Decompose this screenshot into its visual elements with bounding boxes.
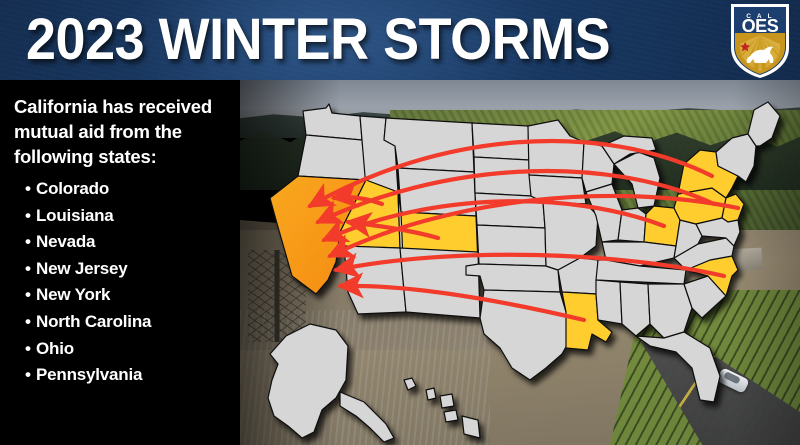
bullet-icon: • <box>25 309 36 336</box>
bullet-icon: • <box>25 229 36 256</box>
map-ak-hi-group <box>268 324 480 442</box>
state-florida <box>636 332 720 402</box>
us-mutual-aid-map <box>240 80 800 445</box>
state-hawaii-5 <box>462 416 480 438</box>
bullet-icon: • <box>25 362 36 389</box>
bullet-icon: • <box>25 203 36 230</box>
state-name: Louisiana <box>36 206 114 225</box>
state-name: Ohio <box>36 339 74 358</box>
state-name: Nevada <box>36 232 95 251</box>
state-alaska <box>268 324 348 438</box>
winter-storms-infographic: 2023 WINTER STORMS <box>0 0 800 445</box>
state-montana <box>384 118 474 172</box>
state-mississippi <box>596 280 622 324</box>
state-name: North Carolina <box>36 312 151 331</box>
state-hawaii-1 <box>404 378 416 390</box>
state-name: Colorado <box>36 179 109 198</box>
bullet-icon: • <box>25 256 36 283</box>
mutual-aid-state-list: •Colorado •Louisiana •Nevada •New Jersey… <box>25 176 235 389</box>
us-map-svg <box>240 80 800 445</box>
header-banner: 2023 WINTER STORMS <box>0 0 800 80</box>
page-title: 2023 WINTER STORMS <box>26 5 610 75</box>
state-alaska-tail <box>340 392 394 442</box>
list-item: •New Jersey <box>25 256 235 283</box>
state-texas <box>480 290 572 380</box>
state-name: New Jersey <box>36 259 128 278</box>
state-maine <box>748 102 780 146</box>
state-oklahoma <box>466 264 560 292</box>
list-item: •Nevada <box>25 229 235 256</box>
list-item: •New York <box>25 282 235 309</box>
cal-oes-logo: C A L OES <box>728 2 792 80</box>
state-kansas <box>477 225 546 266</box>
state-hawaii-3 <box>440 394 454 408</box>
cal-oes-shield-icon: C A L OES <box>728 2 792 80</box>
state-georgia <box>648 284 692 338</box>
list-item: •Ohio <box>25 336 235 363</box>
bullet-icon: • <box>25 282 36 309</box>
bullet-icon: • <box>25 336 36 363</box>
list-item: •Louisiana <box>25 203 235 230</box>
state-washington <box>303 104 362 140</box>
logo-oes-text: OES <box>742 16 779 36</box>
state-hawaii-4 <box>444 410 458 422</box>
state-hawaii-2 <box>426 388 436 400</box>
bullet-icon: • <box>25 176 36 203</box>
sidebar-lead-text: California has received mutual aid from … <box>14 94 230 169</box>
sidebar: California has received mutual aid from … <box>0 80 240 445</box>
list-item: •Colorado <box>25 176 235 203</box>
list-item: •North Carolina <box>25 309 235 336</box>
state-oregon <box>298 135 366 180</box>
state-arizona <box>344 246 406 314</box>
state-name: New York <box>36 285 110 304</box>
list-item: •Pennsylvania <box>25 362 235 389</box>
state-alabama <box>620 282 650 336</box>
state-name: Pennsylvania <box>36 365 142 384</box>
